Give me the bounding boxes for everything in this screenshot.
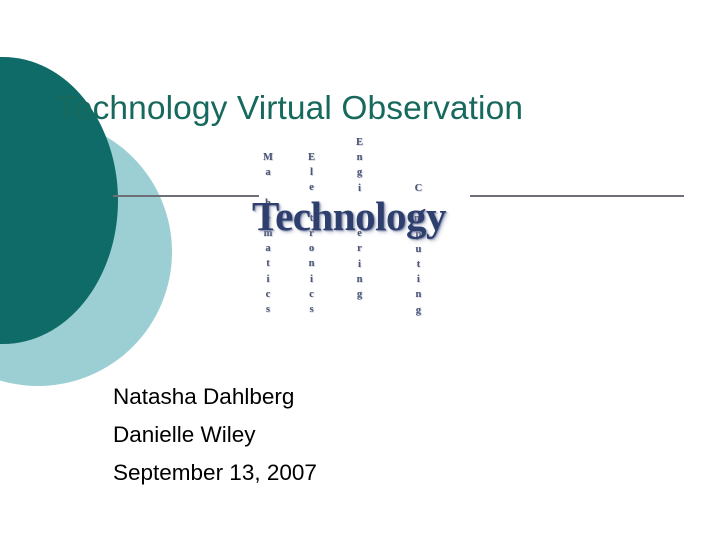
divider-rule-right <box>470 195 684 197</box>
wordart-horizontal-technology: Technology <box>252 196 446 237</box>
wordart-letter: n <box>309 256 315 271</box>
wordart-letter: t <box>417 257 421 272</box>
slide-title: Technology Virtual Observation <box>57 90 677 129</box>
technology-wordart-graphic: M a t h e m a t i c s E l e c t r o n i … <box>252 136 480 346</box>
wordart-letter: s <box>309 302 313 317</box>
wordart-letter: o <box>309 241 314 256</box>
wordart-letter: E <box>308 150 315 165</box>
byline-date: September 13, 2007 <box>113 454 317 492</box>
wordart-letter: E <box>356 135 363 150</box>
wordart-letter: n <box>415 287 421 302</box>
wordart-letter: g <box>416 303 421 318</box>
wordart-letter: M <box>263 150 273 165</box>
wordart-letter: i <box>417 272 420 287</box>
wordart-letter: i <box>358 257 361 272</box>
byline-block: Natasha Dahlberg Danielle Wiley Septembe… <box>113 378 317 492</box>
wordart-letter: c <box>309 287 314 302</box>
wordart-letter: s <box>266 302 270 317</box>
wordart-letter: c <box>266 287 271 302</box>
wordart-letter: r <box>357 241 362 256</box>
wordart-letter: n <box>357 150 363 165</box>
wordart-letter: t <box>266 256 270 271</box>
wordart-letter: a <box>265 165 270 180</box>
wordart-letter: n <box>357 272 363 287</box>
byline-author-2: Danielle Wiley <box>113 416 317 454</box>
divider-rule-left <box>113 195 259 197</box>
wordart-letter: u <box>415 242 421 257</box>
wordart-letter: a <box>265 241 270 256</box>
wordart-letter: i <box>267 272 270 287</box>
wordart-letter: g <box>357 287 362 302</box>
presentation-slide: Technology Virtual Observation M a t h e… <box>0 0 720 540</box>
byline-author-1: Natasha Dahlberg <box>113 378 317 416</box>
wordart-letter: g <box>357 165 362 180</box>
wordart-letter: i <box>310 272 313 287</box>
wordart-letter: l <box>310 165 313 180</box>
